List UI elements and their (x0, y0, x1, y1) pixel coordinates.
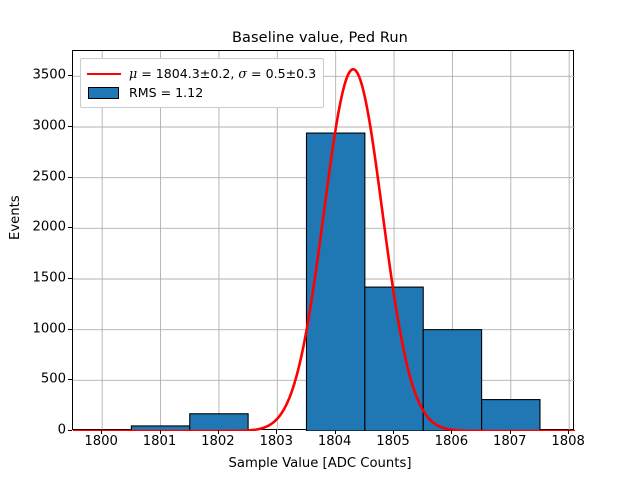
x-axis-label: Sample Value [ADC Counts] (0, 456, 640, 471)
x-tick-mark (393, 430, 394, 434)
y-tick-label: 500 (41, 372, 66, 387)
y-tick-label: 1500 (32, 271, 66, 286)
y-tick-label: 2000 (32, 220, 66, 235)
x-tick-mark (101, 430, 102, 434)
y-tick-mark (68, 430, 72, 431)
y-tick-label: 3500 (32, 68, 66, 83)
figure-canvas: Baseline value, Ped Run Events 050010001… (0, 0, 640, 480)
x-tick-label: 1808 (551, 434, 585, 449)
legend-line-swatch-icon (87, 67, 121, 81)
x-axis-tick-labels: 180018011802180318041805180618071808 (0, 434, 640, 454)
y-tick-label: 1000 (32, 321, 66, 336)
legend-item-gaussian-fit: μ = 1804.3±0.2, σ = 0.5±0.3 (87, 64, 316, 83)
x-tick-mark (276, 430, 277, 434)
legend-patch-swatch-icon (87, 86, 121, 100)
y-tick-label: 2500 (32, 169, 66, 184)
x-tick-mark (451, 430, 452, 434)
y-axis-tick-labels: 0500100015002000250030003500 (0, 50, 66, 430)
x-tick-mark (160, 430, 161, 434)
y-tick-label: 3000 (32, 119, 66, 134)
x-tick-mark (335, 430, 336, 434)
x-tick-mark (218, 430, 219, 434)
x-tick-label: 1800 (84, 434, 118, 449)
x-tick-label: 1802 (201, 434, 235, 449)
legend-label-gaussian-fit: μ = 1804.3±0.2, σ = 0.5±0.3 (129, 66, 316, 81)
x-tick-label: 1804 (318, 434, 352, 449)
x-tick-label: 1805 (376, 434, 410, 449)
x-tick-label: 1803 (260, 434, 294, 449)
x-tick-mark (568, 430, 569, 434)
legend-label-rms: RMS = 1.12 (129, 85, 203, 100)
x-tick-label: 1807 (493, 434, 527, 449)
legend-item-rms: RMS = 1.12 (87, 83, 316, 102)
x-tick-label: 1806 (435, 434, 469, 449)
legend: μ = 1804.3±0.2, σ = 0.5±0.3 RMS = 1.12 (80, 58, 324, 108)
x-tick-mark (510, 430, 511, 434)
page-title: Baseline value, Ped Run (0, 30, 640, 46)
x-tick-label: 1801 (143, 434, 177, 449)
